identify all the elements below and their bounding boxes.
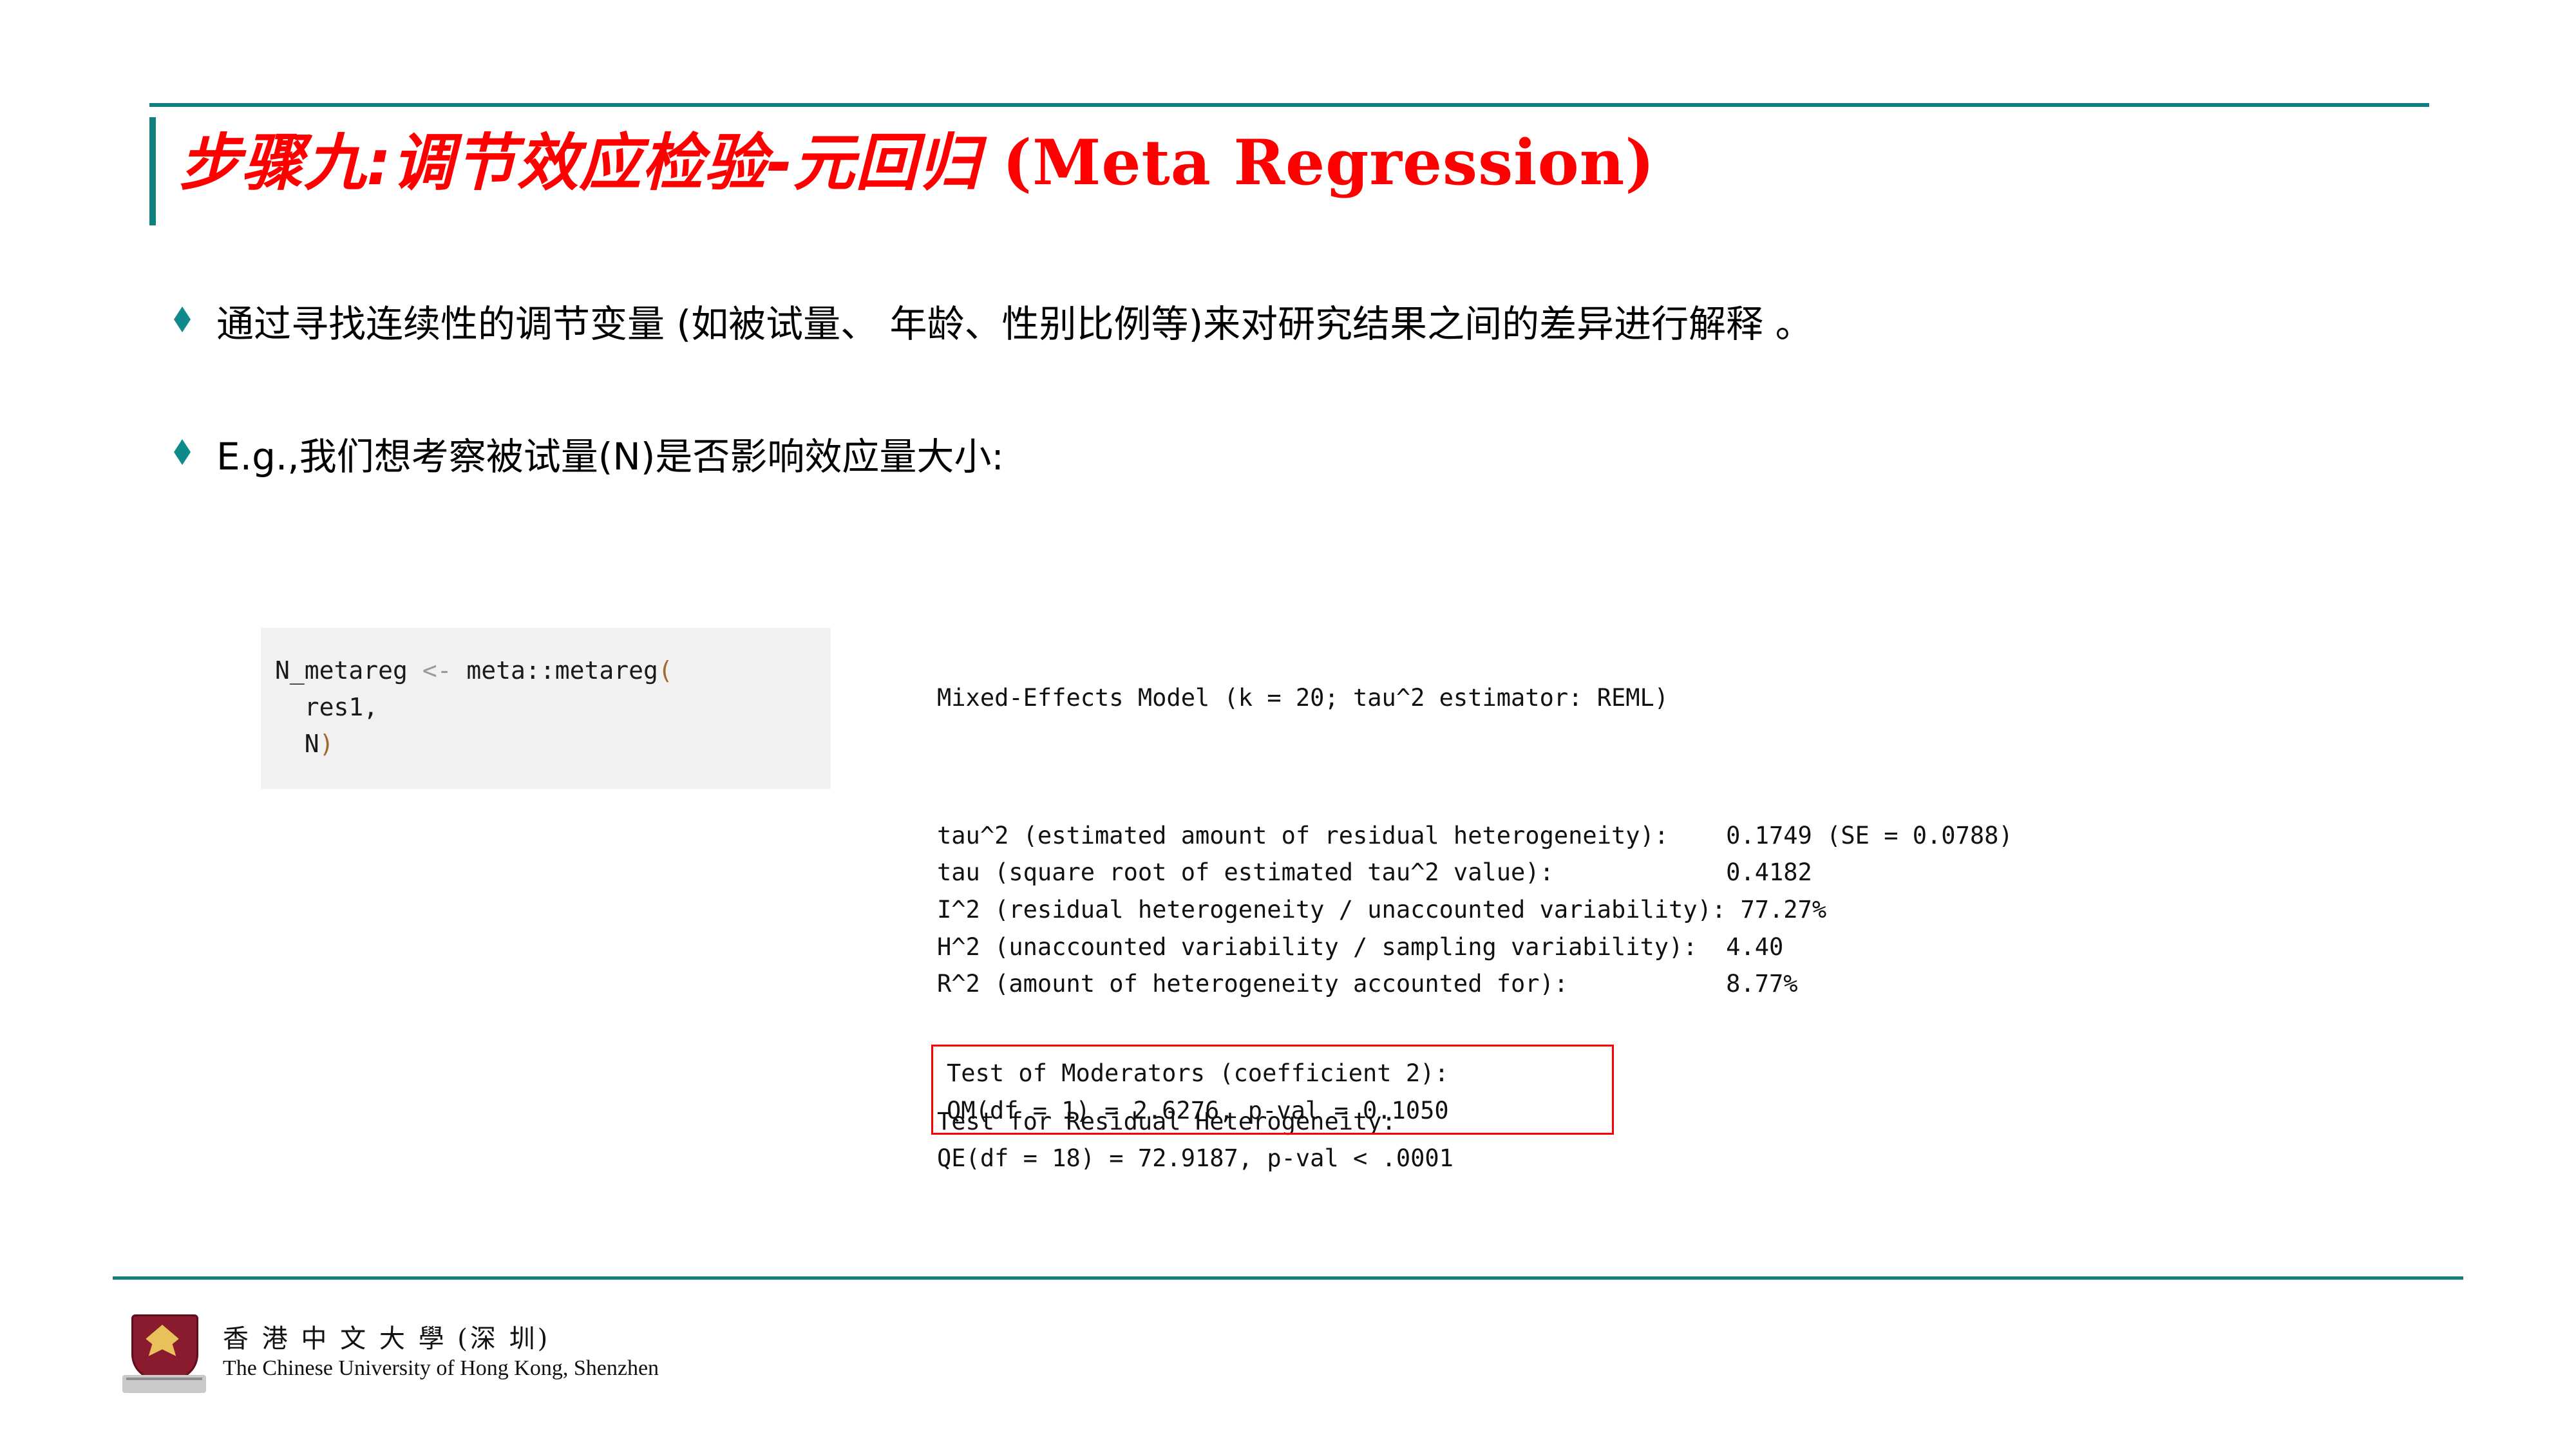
logo-text-group: 香 港 中 文 大 學 (深 圳) The Chinese University…	[223, 1323, 659, 1383]
diamond-bullet-icon	[174, 307, 191, 332]
console-moderator-test: Test of Moderators (coefficient 2): QM(d…	[947, 1055, 1449, 1129]
cuhk-shield-icon	[122, 1311, 206, 1394]
logo-name-chinese: 香 港 中 文 大 學 (深 圳)	[223, 1323, 659, 1355]
page-title: 步骤九:调节效应检验-元回归 (Meta Regression)	[179, 126, 1655, 200]
code-variable-name: N_metareg	[275, 656, 408, 685]
bullet-item-1: 通过寻找连续性的调节变量 (如被试量、 年龄、性别比例等)来对研究结果之间的差异…	[174, 298, 1813, 350]
code-arg-res1: res1,	[275, 693, 378, 721]
r-code-content: N_metareg <- meta::metareg( res1, N)	[275, 652, 831, 762]
university-logo: 香 港 中 文 大 學 (深 圳) The Chinese University…	[122, 1311, 659, 1394]
title-accent-bar	[149, 117, 156, 225]
page-title-chinese: 步骤九:调节效应检验-元回归	[179, 127, 980, 199]
footer-divider	[113, 1276, 2463, 1280]
code-function-call: meta::metareg	[466, 656, 658, 685]
code-close-paren: )	[319, 730, 334, 758]
logo-name-english: The Chinese University of Hong Kong, She…	[223, 1355, 659, 1383]
assignment-operator: <-	[408, 656, 467, 685]
page-title-english: (Meta Regression)	[980, 126, 1655, 199]
code-arg-n: N	[275, 730, 319, 758]
console-model-header: Mixed-Effects Model (k = 20; tau^2 estim…	[937, 679, 2013, 717]
bullet-item-1-text: 通过寻找连续性的调节变量 (如被试量、 年龄、性别比例等)来对研究结果之间的差异…	[216, 298, 1813, 350]
r-code-block: N_metareg <- meta::metareg( res1, N)	[261, 628, 831, 789]
bullet-item-2: E.g.,我们想考察被试量(N)是否影响效应量大小:	[174, 430, 1004, 483]
console-heterogeneity-stats: tau^2 (estimated amount of residual hete…	[937, 817, 2013, 1003]
diamond-bullet-icon	[174, 439, 191, 465]
logo-base-line	[126, 1378, 202, 1380]
code-open-paren: (	[658, 656, 673, 685]
header-divider	[149, 103, 2429, 107]
bullet-item-2-text: E.g.,我们想考察被试量(N)是否影响效应量大小:	[216, 430, 1004, 483]
